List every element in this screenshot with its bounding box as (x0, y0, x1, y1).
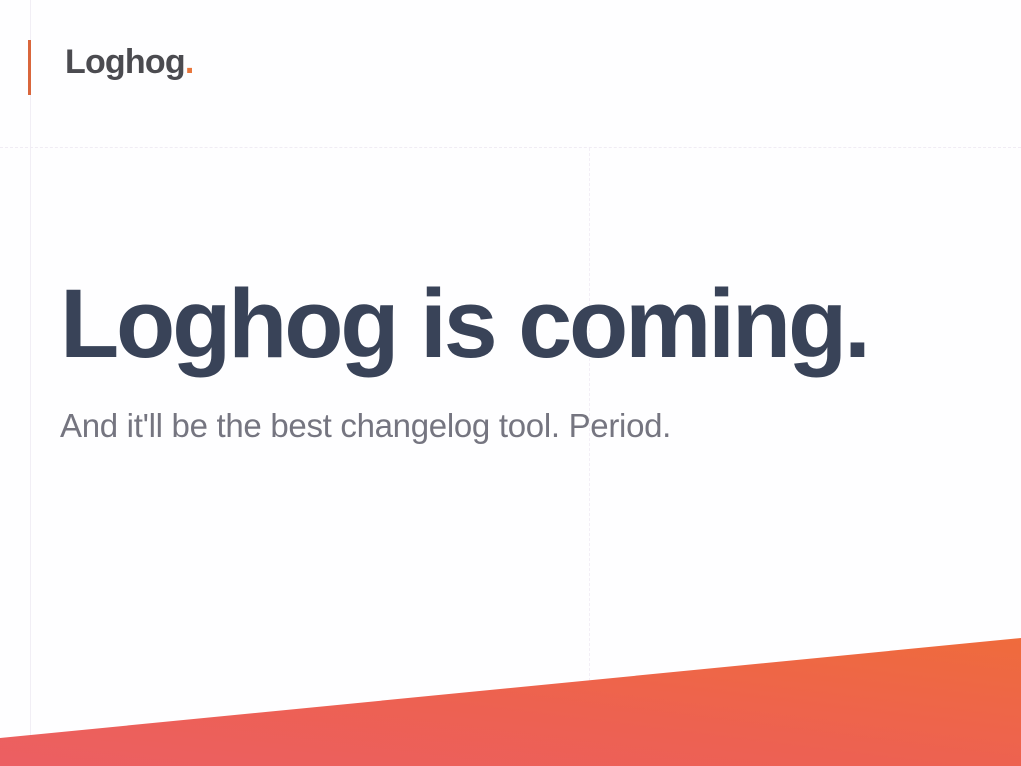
diagonal-band-shape (0, 616, 1021, 766)
horizontal-guide-line (0, 147, 1021, 148)
hero-section: Loghog is coming. And it'll be the best … (60, 270, 868, 448)
brand-name: Loghog (65, 43, 185, 81)
brand-dot: . (185, 43, 194, 81)
brand-wordmark: Loghog. (65, 40, 193, 84)
diagonal-gradient-band (0, 616, 1021, 766)
page-subtitle: And it'll be the best changelog tool. Pe… (60, 378, 868, 448)
page-title: Loghog is coming. (60, 270, 868, 378)
brand-accent-bar (28, 40, 31, 95)
landing-page: Loghog. Loghog is coming. And it'll be t… (0, 0, 1021, 766)
brand-logo[interactable]: Loghog. (28, 40, 193, 95)
